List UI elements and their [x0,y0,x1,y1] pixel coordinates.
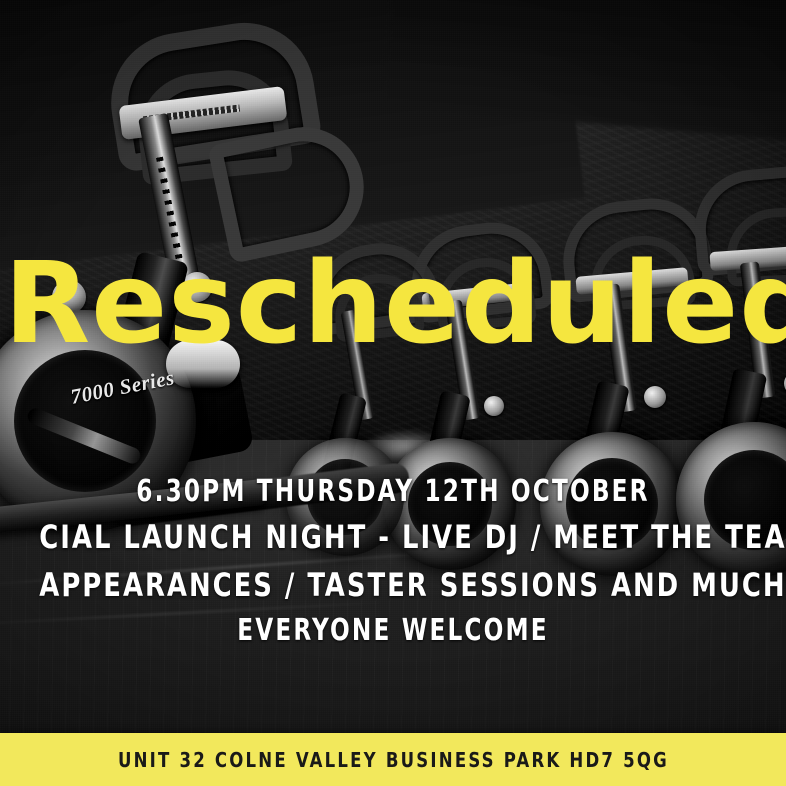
detail-line-datetime: 6.30PM THURSDAY 12TH OCTOBER [55,470,731,514]
headline-rescheduled: Rescheduled [0,248,786,360]
detail-line-welcome: EVERYONE WELCOME [55,609,731,653]
address-text: UNIT 32 COLNE VALLEY BUSINESS PARK HD7 5… [118,748,669,772]
background-photo: 7000 Series [0,0,786,786]
detail-line-appearances: APPEARANCES / TASTER SESSIONS AND MUCH M… [39,562,746,609]
poster-canvas: 7000 Series Rescheduled 6.30PM THURSDAY … [0,0,786,786]
detail-line-launch: CIAL LAUNCH NIGHT - LIVE DJ / MEET THE T… [39,514,746,561]
event-details: 6.30PM THURSDAY 12TH OCTOBER CIAL LAUNCH… [0,470,786,654]
address-bar: UNIT 32 COLNE VALLEY BUSINESS PARK HD7 5… [0,733,786,786]
